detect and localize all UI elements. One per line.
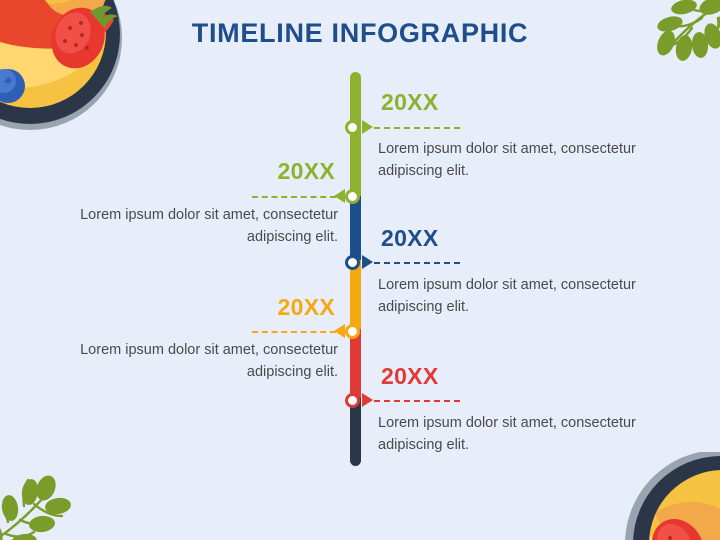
timeline-year-4: 20XX [95, 294, 335, 321]
timeline-connector-4 [252, 331, 336, 333]
timeline-year-1: 20XX [381, 89, 438, 116]
timeline-segment-6 [350, 398, 361, 466]
timeline-description-1: Lorem ipsum dolor sit amet, consectetur … [378, 139, 658, 183]
timeline-segment-2 [350, 125, 361, 199]
timeline-year-3: 20XX [381, 225, 438, 252]
timeline-marker-1[interactable] [345, 120, 360, 135]
timeline-year-5: 20XX [381, 363, 438, 390]
timeline-connector-2 [252, 196, 336, 198]
leaf-branch-bottomleft-icon [0, 462, 106, 540]
timeline-arrowhead-1 [362, 120, 373, 134]
timeline-marker-4[interactable] [345, 324, 360, 339]
timeline-segment-5 [350, 329, 361, 403]
timeline-arrowhead-3 [362, 255, 373, 269]
timeline-description-4: Lorem ipsum dolor sit amet, consectetur … [58, 340, 338, 384]
slide-canvas: TIMELINE INFOGRAPHIC 20XX Lorem ipsum do… [0, 0, 720, 540]
timeline-marker-2[interactable] [345, 189, 360, 204]
timeline-arrowhead-2 [334, 189, 345, 203]
timeline-year-2: 20XX [95, 158, 335, 185]
timeline-description-5: Lorem ipsum dolor sit amet, consectetur … [378, 413, 658, 457]
timeline-arrowhead-5 [362, 393, 373, 407]
timeline-arrowhead-4 [334, 324, 345, 338]
timeline-description-3: Lorem ipsum dolor sit amet, consectetur … [378, 275, 658, 319]
timeline-connector-5 [374, 400, 460, 402]
timeline-connector-1 [374, 127, 460, 129]
pancake-plate-bottomright-icon [614, 452, 720, 540]
timeline-description-2: Lorem ipsum dolor sit amet, consectetur … [58, 205, 338, 249]
timeline-marker-5[interactable] [345, 393, 360, 408]
timeline-segment-4 [350, 260, 361, 334]
page-title: TIMELINE INFOGRAPHIC [0, 18, 720, 49]
timeline-marker-3[interactable] [345, 255, 360, 270]
timeline-connector-3 [374, 262, 460, 264]
